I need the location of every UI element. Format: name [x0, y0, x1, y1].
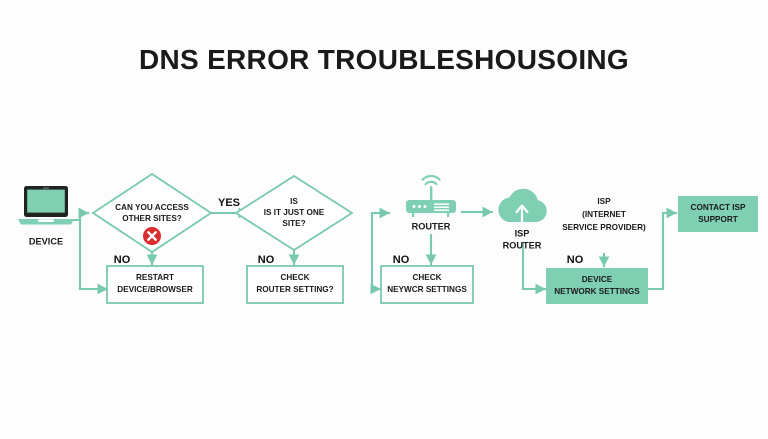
- router-label: ROUTER: [412, 221, 451, 231]
- dns-troubleshooting-flowchart: DEVICE CAN YOU ACCESS OTHER SITES? NO RE…: [0, 0, 768, 439]
- edge-label-no-4: NO: [567, 254, 584, 266]
- isp-caption-line3: SERVICE PROVIDER): [562, 223, 646, 232]
- isp-caption-line2: (INTERNET: [582, 210, 626, 219]
- action-device-network-settings[interactable]: DEVICE NETWORK SETTINGS: [546, 268, 648, 304]
- decision1-line2: OTHER SITES?: [122, 214, 182, 223]
- action1-line1: RESTART: [136, 273, 174, 282]
- decision2-line2: IS IT JUST ONE: [264, 208, 325, 217]
- action3-line2: NEYWCR SETTINGS: [387, 285, 467, 294]
- action-contact-isp-support[interactable]: CONTACT ISP SUPPORT: [678, 196, 758, 232]
- action-check-router-setting[interactable]: CHECK ROUTER SETTING?: [247, 266, 343, 303]
- laptop-icon: [18, 186, 74, 225]
- isp-router-label-line2: ROUTER: [503, 240, 542, 250]
- action2-line1: CHECK: [280, 273, 309, 282]
- red-x-circle-icon: [143, 227, 161, 245]
- action-restart-device-browser[interactable]: RESTART DEVICE/BROWSER: [107, 266, 203, 303]
- decision2-line1: IS: [290, 197, 298, 206]
- edge-devicenet-to-contact: [648, 213, 676, 289]
- edge-label-no-1: NO: [114, 254, 131, 266]
- isp-caption-line1: ISP: [597, 197, 611, 206]
- action1-line2: DEVICE/BROWSER: [117, 285, 193, 294]
- diagram-canvas: DNS ERROR TROUBLESHOUSOING: [0, 0, 768, 439]
- action3-line1: CHECK: [412, 273, 441, 282]
- action4-line2: NETWORK SETTINGS: [554, 287, 640, 296]
- decision-is-it-just-one-site[interactable]: IS IS IT JUST ONE SITE?: [236, 176, 352, 250]
- wifi-router-icon: [406, 176, 456, 217]
- isp-caption: ISP (INTERNET SERVICE PROVIDER): [562, 197, 646, 232]
- device-label: DEVICE: [29, 236, 63, 246]
- action-check-network-settings[interactable]: CHECK NEYWCR SETTINGS: [381, 266, 473, 303]
- cloud-upload-icon: [498, 189, 546, 222]
- decision2-line3: SITE?: [282, 219, 305, 228]
- edge-label-yes-1: YES: [218, 197, 240, 209]
- decision1-line1: CAN YOU ACCESS: [115, 203, 189, 212]
- action4-line1: DEVICE: [582, 275, 613, 284]
- edge-label-no-3: NO: [393, 254, 410, 266]
- edge-label-no-2: NO: [258, 254, 275, 266]
- action5-line1: CONTACT ISP: [691, 203, 746, 212]
- action5-line2: SUPPORT: [698, 215, 738, 224]
- isp-router-label-line1: ISP: [515, 228, 530, 238]
- action2-line2: ROUTER SETTING?: [256, 285, 333, 294]
